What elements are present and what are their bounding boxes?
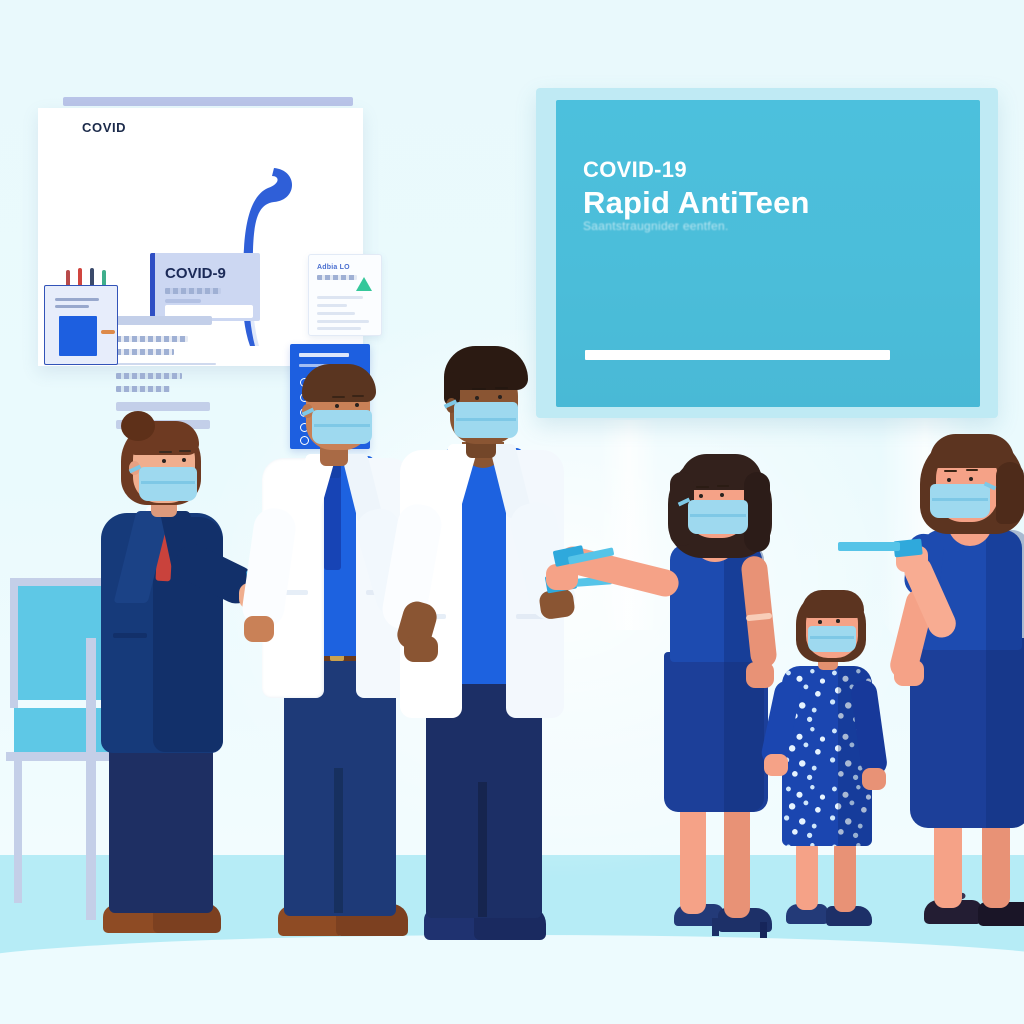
kit-label <box>55 305 89 308</box>
hand-left <box>404 636 438 662</box>
trousers-gap <box>334 768 343 913</box>
document-line <box>317 296 363 299</box>
mask-fold <box>456 418 516 421</box>
child-mask-fold <box>810 636 854 639</box>
kit-inner-panel <box>59 316 97 356</box>
signage-divider-bar <box>585 350 890 360</box>
document-line <box>317 320 369 323</box>
person-child-patterned-dress[interactable] <box>770 588 900 950</box>
eyebrow-right <box>179 450 191 452</box>
leg-right <box>834 840 856 912</box>
document-line <box>317 327 361 330</box>
face-mask <box>930 484 990 518</box>
hand-left <box>244 616 274 642</box>
dress-shading <box>986 530 1024 828</box>
child-hand-left <box>764 754 788 776</box>
eyebrow-right <box>495 387 508 389</box>
hair-tie-back <box>996 462 1024 524</box>
hand-left <box>546 564 578 590</box>
eye-right <box>355 403 359 407</box>
poster-card-line <box>165 299 201 303</box>
eye-left <box>475 396 479 400</box>
signage-screen[interactable] <box>556 100 980 407</box>
child-eye-left <box>818 620 822 624</box>
hair-bun <box>121 411 155 441</box>
document-line <box>317 312 355 315</box>
child-hair-front <box>802 590 864 618</box>
poster-body-text <box>116 386 170 392</box>
chart-chevron-icon <box>356 277 372 291</box>
poster-body-text <box>116 349 174 355</box>
heel-right-stem <box>760 922 767 938</box>
poster-body-text <box>116 373 182 379</box>
poster-rail <box>63 97 353 106</box>
eye-left <box>335 404 339 408</box>
eyebrow-left <box>696 486 709 488</box>
mask-fold <box>932 498 988 501</box>
signage-title: Rapid AntiTeen <box>583 185 810 221</box>
person-woman-right-blue-dress[interactable] <box>900 438 1024 948</box>
face-mask <box>688 500 748 534</box>
eye-right <box>969 477 973 481</box>
chair-back-frame-left <box>10 578 18 708</box>
poster-header: COVID <box>82 120 126 135</box>
eyebrow-left <box>472 388 486 390</box>
document-heading: Adbia LO <box>317 264 350 271</box>
poster-card-sub <box>165 288 221 294</box>
list-heading <box>299 353 349 357</box>
eye-left <box>947 478 951 482</box>
eyebrow-right <box>966 469 978 471</box>
eyebrow-left <box>332 396 345 398</box>
face-mask <box>139 467 197 501</box>
hand-left <box>894 660 924 686</box>
poster-body-text <box>116 336 188 342</box>
face-mask <box>312 410 372 444</box>
mask-fold <box>690 514 746 517</box>
poster-body-line <box>116 316 212 325</box>
eye-left <box>699 494 703 498</box>
illustration-scene: COVID COVID-9 Adbia LO <box>0 0 1024 1024</box>
mask-fold <box>141 481 195 484</box>
eye-right <box>498 395 502 399</box>
hair-front <box>930 434 1014 468</box>
blazer-pocket <box>113 633 147 638</box>
child-eye-right <box>836 619 840 623</box>
eyebrow-left <box>159 451 172 453</box>
child-face-mask <box>808 626 856 652</box>
trousers-gap <box>478 782 487 917</box>
eye-right <box>720 493 724 497</box>
signage-subtitle: Saantstraugnider eentfen. <box>583 219 729 233</box>
eyebrow-right <box>352 395 364 397</box>
eye-left <box>162 459 166 463</box>
eyebrow-left <box>944 470 957 472</box>
poster-card-heading: COVID-9 <box>165 265 226 282</box>
poster-body-rule <box>116 363 216 365</box>
document-line <box>317 304 347 307</box>
poster-headline-card: COVID-9 <box>150 253 260 321</box>
child-hand-right <box>862 768 886 790</box>
poster-document-card: Adbia LO <box>308 254 382 336</box>
eye-right <box>182 458 186 462</box>
held-test-strip <box>838 542 900 551</box>
document-subheading <box>317 275 357 280</box>
mask-fold <box>314 424 370 427</box>
person-doctor-white-coat-scrubs[interactable] <box>396 352 596 952</box>
kit-label <box>55 298 99 301</box>
trousers-gap <box>155 785 165 913</box>
kit-side-label <box>101 330 115 334</box>
chair-leg-left <box>14 758 22 903</box>
eyebrow-right <box>717 485 729 487</box>
hand-right <box>538 588 576 620</box>
test-kit-box <box>44 285 118 365</box>
signage-kicker: COVID-19 <box>583 157 687 183</box>
leg-left <box>796 840 818 910</box>
